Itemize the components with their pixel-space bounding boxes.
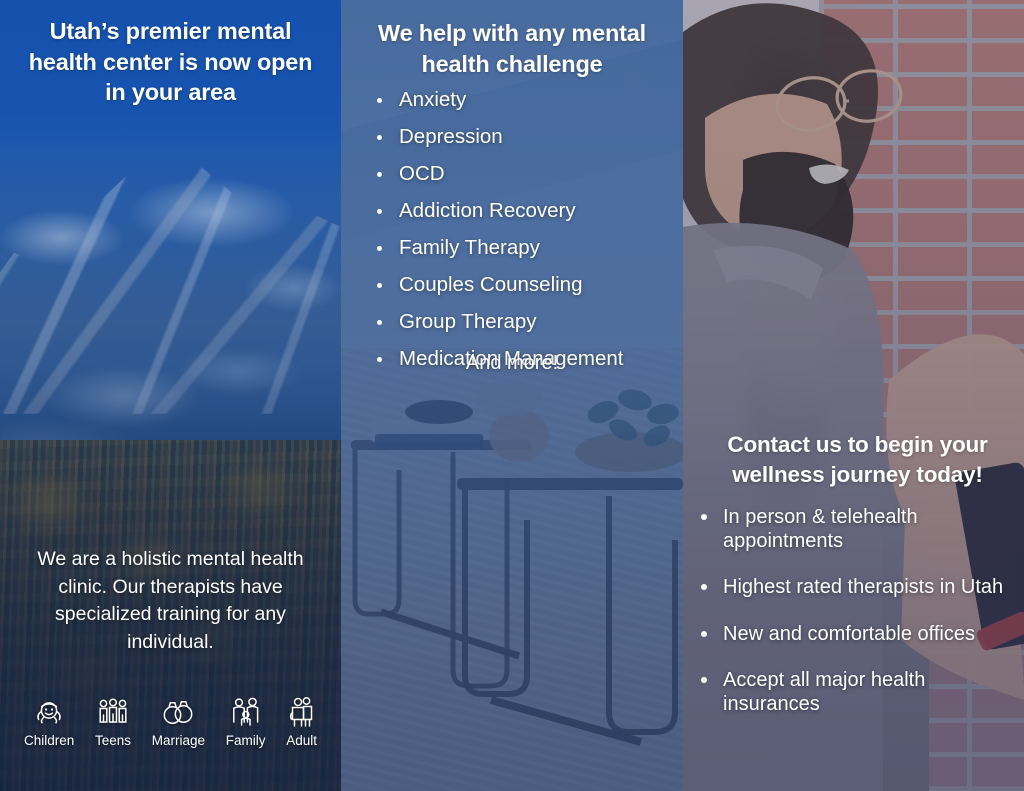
audience-item-marriage[interactable]: Marriage xyxy=(152,695,205,748)
panel-right: Contact us to begin your wellness journe… xyxy=(683,0,1024,791)
panel-middle-headline: We help with any mental health challenge xyxy=(359,18,665,79)
audience-label-teens: Teens xyxy=(95,734,131,748)
list-item: Family Therapy xyxy=(375,238,673,259)
audience-item-children[interactable]: Children xyxy=(24,695,74,748)
list-item: Accept all major health insurances xyxy=(695,669,1016,716)
audience-item-adult[interactable]: Adult xyxy=(286,695,317,748)
list-item: Group Therapy xyxy=(375,312,673,333)
children-icon xyxy=(32,695,66,729)
adult-icon xyxy=(287,695,317,729)
list-item: Couples Counseling xyxy=(375,275,673,296)
list-item: OCD xyxy=(375,164,673,185)
family-icon xyxy=(229,695,263,729)
list-item: Highest rated therapists in Utah xyxy=(695,576,1016,600)
panel-left-headline: Utah’s premier mental health center is n… xyxy=(16,16,325,108)
audience-icon-row: Children Teens xyxy=(14,695,327,748)
audience-item-teens[interactable]: Teens xyxy=(95,695,131,748)
brochure-root: Utah’s premier mental health center is n… xyxy=(0,0,1024,791)
teens-icon xyxy=(96,695,130,729)
panel-left-body-text: We are a holistic mental health clinic. … xyxy=(26,546,315,657)
services-list: Anxiety Depression OCD Addiction Recover… xyxy=(375,90,673,386)
audience-label-children: Children xyxy=(24,734,74,748)
list-item: Addiction Recovery xyxy=(375,201,673,222)
list-item: In person & telehealth appointments xyxy=(695,506,1016,553)
list-item: New and comfortable offices xyxy=(695,623,1016,647)
panel-left-content: Utah’s premier mental health center is n… xyxy=(0,0,341,791)
audience-label-adult: Adult xyxy=(286,734,317,748)
services-footer-note: And more! xyxy=(359,352,665,375)
marriage-icon xyxy=(159,695,197,729)
panel-right-headline: Contact us to begin your wellness journe… xyxy=(705,430,1010,489)
list-item: Anxiety xyxy=(375,90,673,111)
list-item: Depression xyxy=(375,127,673,148)
audience-item-family[interactable]: Family xyxy=(226,695,266,748)
panel-middle: We help with any mental health challenge… xyxy=(341,0,683,791)
benefits-list: In person & telehealth appointments High… xyxy=(695,506,1016,740)
audience-label-family: Family xyxy=(226,734,266,748)
panel-left: Utah’s premier mental health center is n… xyxy=(0,0,341,791)
panel-right-content: Contact us to begin your wellness journe… xyxy=(683,0,1024,791)
audience-label-marriage: Marriage xyxy=(152,734,205,748)
panel-middle-content: We help with any mental health challenge… xyxy=(341,0,683,791)
